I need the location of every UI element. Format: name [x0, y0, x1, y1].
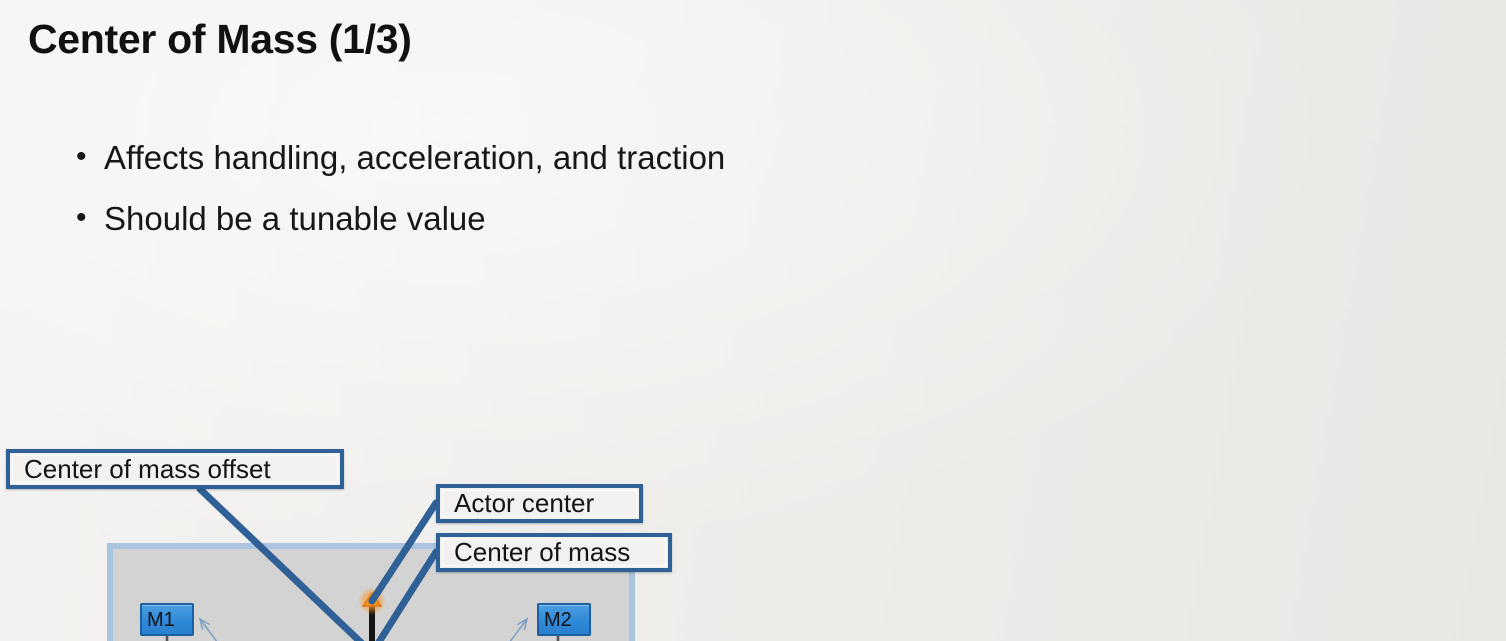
- callout-label: Center of mass: [454, 537, 630, 568]
- mass-box-m1[interactable]: M1: [140, 603, 194, 636]
- mass-box-m2[interactable]: M2: [537, 603, 591, 636]
- callout-label: Actor center: [454, 488, 594, 519]
- callout-center-of-mass-offset[interactable]: Center of mass offset: [6, 449, 344, 489]
- callout-center-of-mass[interactable]: Center of mass: [436, 533, 672, 572]
- page-title: Center of Mass (1/3): [28, 16, 1506, 63]
- callout-actor-center[interactable]: Actor center: [436, 484, 643, 523]
- suspension-diagram: Center of mass offset Actor center Cente…: [0, 169, 700, 641]
- slide-canvas: Center of Mass (1/3) • Affects handling,…: [0, 0, 1506, 641]
- bullet-marker-icon: •: [76, 141, 104, 173]
- callout-label: Center of mass offset: [24, 454, 271, 485]
